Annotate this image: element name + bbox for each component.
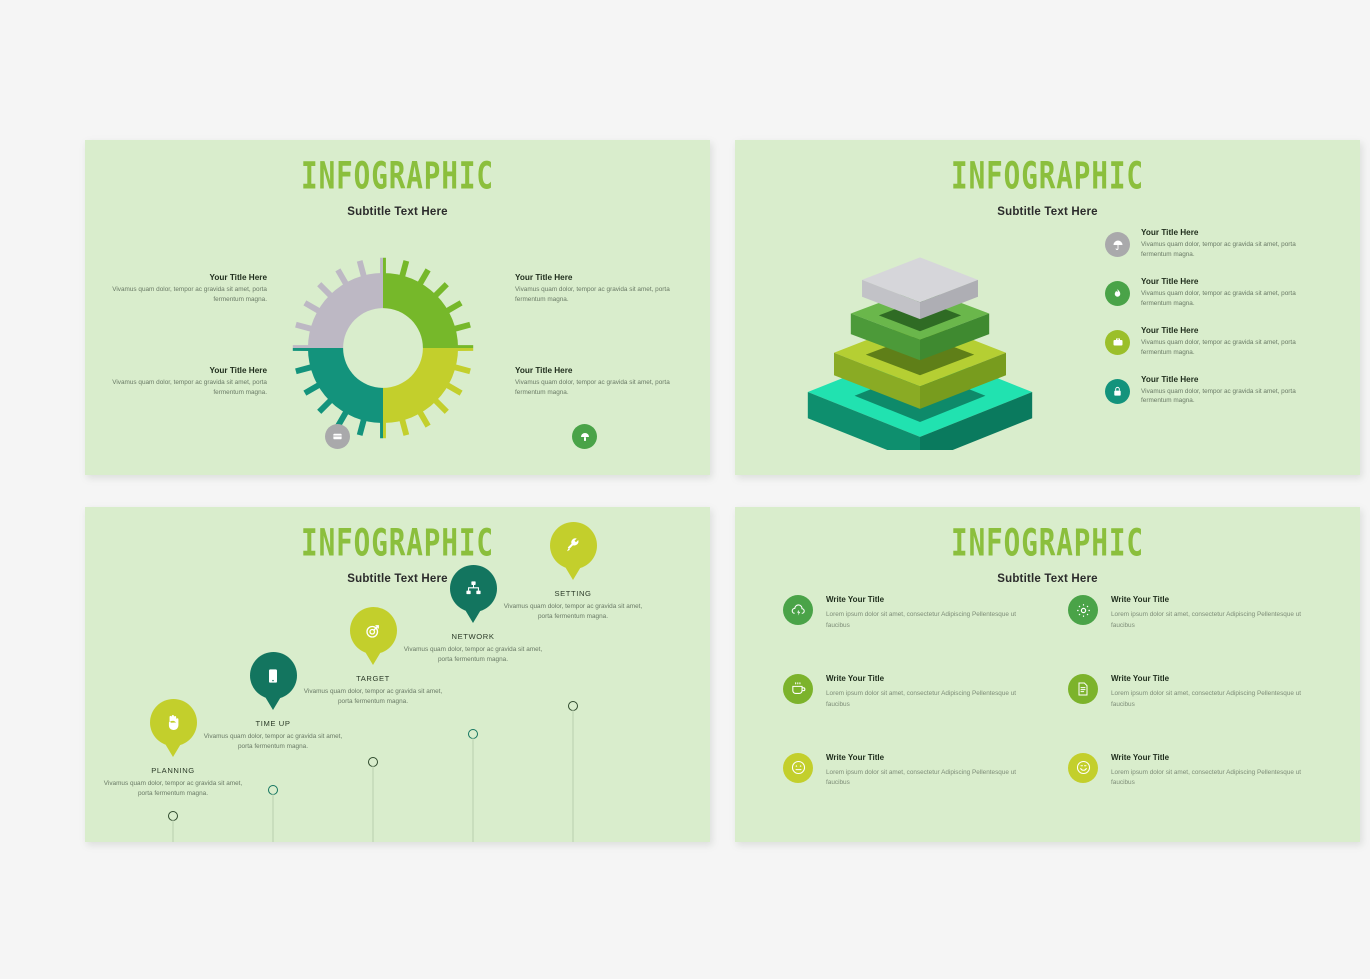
smiley-badge-icon[interactable] xyxy=(1068,753,1098,783)
panel2-header: INFOGRAPHIC Subtitle Text Here xyxy=(735,140,1360,218)
list-item-title: Your Title Here xyxy=(1141,326,1311,335)
panel4-item-grid: Write Your Title Lorem ipsum dolor sit a… xyxy=(783,595,1323,789)
panel-timeline-pins: INFOGRAPHIC Subtitle Text Here PLANNING … xyxy=(85,507,710,842)
item-desc: Lorem ipsum dolor sit amet, consectetur … xyxy=(1111,610,1323,632)
list-item: Write Your Title Lorem ipsum dolor sit a… xyxy=(783,753,1038,790)
gear-item-2-title: Your Title Here xyxy=(107,366,267,375)
infographic-deck: INFOGRAPHIC Subtitle Text Here xyxy=(0,0,1370,979)
gear-item-4-desc: Vivamus quam dolor, tempor ac gravida si… xyxy=(515,378,675,398)
step-label: NETWORK xyxy=(403,632,543,641)
list-item: Your Title Here Vivamus quam dolor, temp… xyxy=(1105,228,1335,260)
emoji-face-icon[interactable] xyxy=(783,753,813,783)
card-icon[interactable] xyxy=(325,424,350,449)
list-item: Your Title Here Vivamus quam dolor, temp… xyxy=(1105,277,1335,309)
list-item-title: Your Title Here xyxy=(1141,228,1311,237)
timeline-stem xyxy=(173,820,174,842)
wrench-icon[interactable] xyxy=(550,522,597,569)
gear-item-4-title: Your Title Here xyxy=(515,366,675,375)
gear-item-2: Your Title Here Vivamus quam dolor, temp… xyxy=(107,366,267,398)
lock-icon[interactable] xyxy=(1105,379,1130,404)
panel-gear-chart: INFOGRAPHIC Subtitle Text Here xyxy=(85,140,710,475)
gear-item-1: Your Title Here Vivamus quam dolor, temp… xyxy=(107,273,267,305)
flame-icon[interactable] xyxy=(1105,281,1130,306)
item-title: Write Your Title xyxy=(826,674,1038,683)
cloud-lightning-icon[interactable] xyxy=(783,595,813,625)
hand-icon[interactable] xyxy=(150,699,197,746)
gear-item-3: Your Title Here Vivamus quam dolor, temp… xyxy=(515,273,675,305)
document-icon[interactable] xyxy=(1068,674,1098,704)
step-desc: Vivamus quam dolor, tempor ac gravida si… xyxy=(103,779,243,798)
tablet-icon[interactable] xyxy=(250,652,297,699)
timeline-stem xyxy=(373,766,374,842)
target-icon[interactable] xyxy=(350,607,397,654)
item-desc: Lorem ipsum dolor sit amet, consectetur … xyxy=(826,768,1038,790)
sitemap-icon[interactable] xyxy=(450,565,497,612)
gear-item-1-title: Your Title Here xyxy=(107,273,267,282)
step-desc: Vivamus quam dolor, tempor ac gravida si… xyxy=(303,687,443,706)
list-item-desc: Vivamus quam dolor, tempor ac gravida si… xyxy=(1141,338,1311,358)
list-item-desc: Vivamus quam dolor, tempor ac gravida si… xyxy=(1141,289,1311,309)
coffee-cup-icon[interactable] xyxy=(783,674,813,704)
panel-layer-stack: INFOGRAPHIC Subtitle Text Here xyxy=(735,140,1360,475)
gear-item-3-title: Your Title Here xyxy=(515,273,675,282)
step-desc: Vivamus quam dolor, tempor ac gravida si… xyxy=(403,645,543,664)
gear-diagram xyxy=(288,253,478,443)
item-title: Write Your Title xyxy=(1111,753,1323,762)
list-item: Write Your Title Lorem ipsum dolor sit a… xyxy=(1068,753,1323,790)
list-item: Your Title Here Vivamus quam dolor, temp… xyxy=(1105,375,1335,407)
panel-six-items: INFOGRAPHIC Subtitle Text Here Write You… xyxy=(735,507,1360,842)
list-item: Write Your Title Lorem ipsum dolor sit a… xyxy=(1068,595,1323,632)
timeline-stem xyxy=(573,710,574,842)
gear-item-2-desc: Vivamus quam dolor, tempor ac gravida si… xyxy=(107,378,267,398)
page-title: INFOGRAPHIC xyxy=(760,525,1335,563)
timeline-stem xyxy=(273,794,274,842)
gear-item-1-desc: Vivamus quam dolor, tempor ac gravida si… xyxy=(107,285,267,305)
item-title: Write Your Title xyxy=(1111,674,1323,683)
page-subtitle: Subtitle Text Here xyxy=(735,573,1360,585)
step-label: SETTING xyxy=(503,589,643,598)
isometric-stack-diagram xyxy=(795,235,1045,450)
gear-icon[interactable] xyxy=(1068,595,1098,625)
umbrella-icon[interactable] xyxy=(1105,232,1130,257)
gear-item-4: Your Title Here Vivamus quam dolor, temp… xyxy=(515,366,675,398)
panel2-item-list: Your Title Here Vivamus quam dolor, temp… xyxy=(1105,228,1335,423)
item-desc: Lorem ipsum dolor sit amet, consectetur … xyxy=(1111,689,1323,711)
item-desc: Lorem ipsum dolor sit amet, consectetur … xyxy=(1111,768,1323,790)
item-title: Write Your Title xyxy=(826,753,1038,762)
panel4-header: INFOGRAPHIC Subtitle Text Here xyxy=(735,507,1360,585)
list-item: Write Your Title Lorem ipsum dolor sit a… xyxy=(783,674,1038,711)
list-item-desc: Vivamus quam dolor, tempor ac gravida si… xyxy=(1141,240,1311,260)
item-title: Write Your Title xyxy=(1111,595,1323,604)
step-label: TIME UP xyxy=(203,719,343,728)
timeline-step-setting: SETTING Vivamus quam dolor, tempor ac gr… xyxy=(503,522,643,621)
page-subtitle: Subtitle Text Here xyxy=(735,206,1360,218)
step-desc: Vivamus quam dolor, tempor ac gravida si… xyxy=(203,732,343,751)
step-label: TARGET xyxy=(303,674,443,683)
item-title: Write Your Title xyxy=(826,595,1038,604)
list-item: Your Title Here Vivamus quam dolor, temp… xyxy=(1105,326,1335,358)
gear-item-3-desc: Vivamus quam dolor, tempor ac gravida si… xyxy=(515,285,675,305)
mushroom-icon[interactable] xyxy=(572,424,597,449)
page-title: INFOGRAPHIC xyxy=(760,158,1335,196)
list-item-title: Your Title Here xyxy=(1141,375,1311,384)
briefcase-icon[interactable] xyxy=(1105,330,1130,355)
list-item: Write Your Title Lorem ipsum dolor sit a… xyxy=(1068,674,1323,711)
step-label: PLANNING xyxy=(103,766,243,775)
item-desc: Lorem ipsum dolor sit amet, consectetur … xyxy=(826,610,1038,632)
timeline-stem xyxy=(473,738,474,842)
step-desc: Vivamus quam dolor, tempor ac gravida si… xyxy=(503,602,643,621)
list-item-desc: Vivamus quam dolor, tempor ac gravida si… xyxy=(1141,387,1311,407)
list-item-title: Your Title Here xyxy=(1141,277,1311,286)
item-desc: Lorem ipsum dolor sit amet, consectetur … xyxy=(826,689,1038,711)
list-item: Write Your Title Lorem ipsum dolor sit a… xyxy=(783,595,1038,632)
